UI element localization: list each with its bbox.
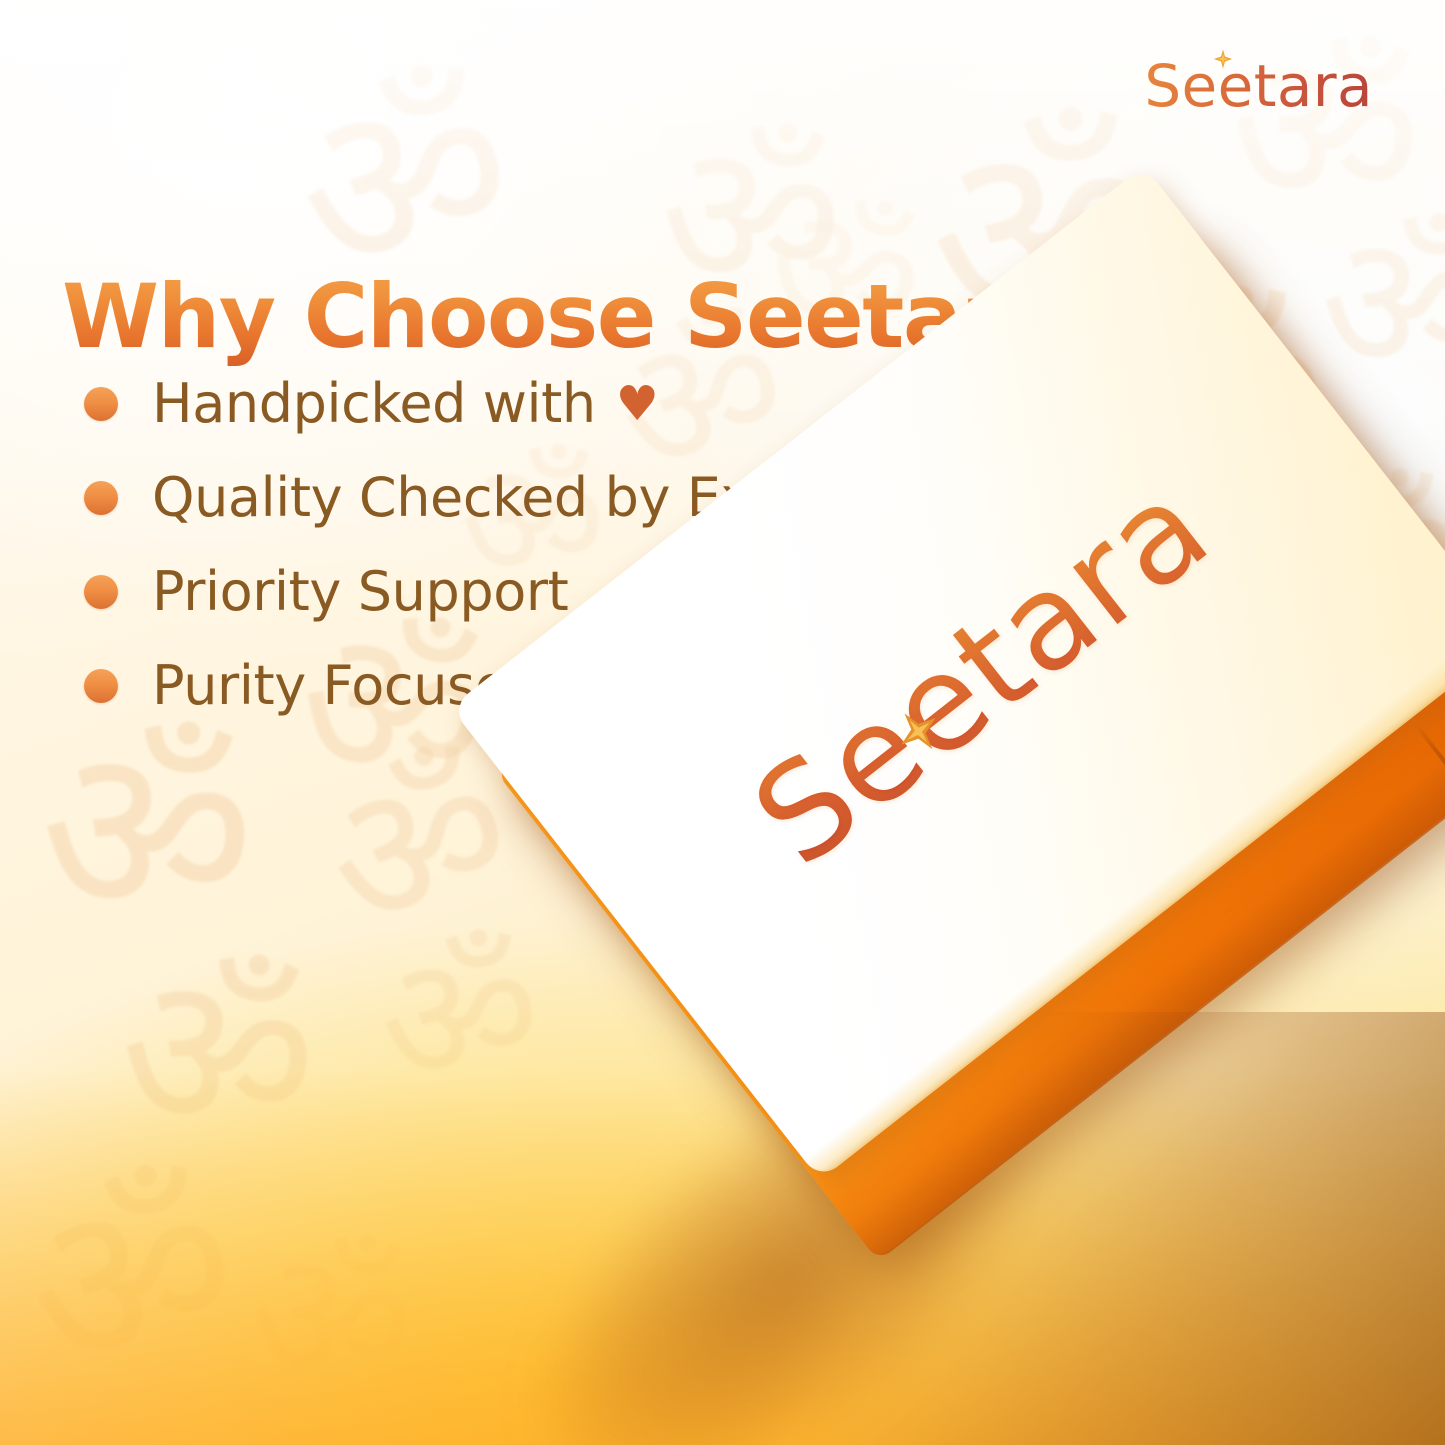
benefit-item-label-wrap: Purity Focused [152,654,541,717]
benefit-item-label: Handpicked with [152,372,596,435]
bullet-dot-icon [84,387,118,421]
benefits-list: Handpicked with♥Quality Checked by Exper… [84,372,889,717]
benefit-item-label: Quality Checked by Experts [152,466,889,529]
brand-logo: Seetara [1144,52,1373,120]
bullet-dot-icon [84,481,118,515]
promo-poster: ॐॐॐॐॐॐॐॐॐॐॐॐॐॐॐॐॐॐॐॐ Seetara Why Choose … [0,0,1445,1445]
benefit-item-label: Priority Support [152,560,568,623]
benefit-item: Handpicked with♥ [84,372,889,435]
bullet-dot-icon [84,669,118,703]
benefit-item-label-wrap: Priority Support [152,560,568,623]
brand-logo-text: Seetara [1144,52,1373,120]
heart-icon: ♥ [616,380,659,428]
benefit-item-label-wrap: Quality Checked by Experts [152,466,889,529]
benefit-item: Purity Focused [84,654,889,717]
bullet-dot-icon [84,575,118,609]
benefit-item: Priority Support [84,560,889,623]
benefit-item-label-wrap: Handpicked with♥ [152,372,658,435]
page-title: Why Choose Seetara [62,265,1061,368]
background-orange-floor [0,1069,1445,1445]
benefit-item-label: Purity Focused [152,654,541,717]
benefit-item: Quality Checked by Experts [84,466,889,529]
sparkle-star-icon [1212,48,1234,70]
